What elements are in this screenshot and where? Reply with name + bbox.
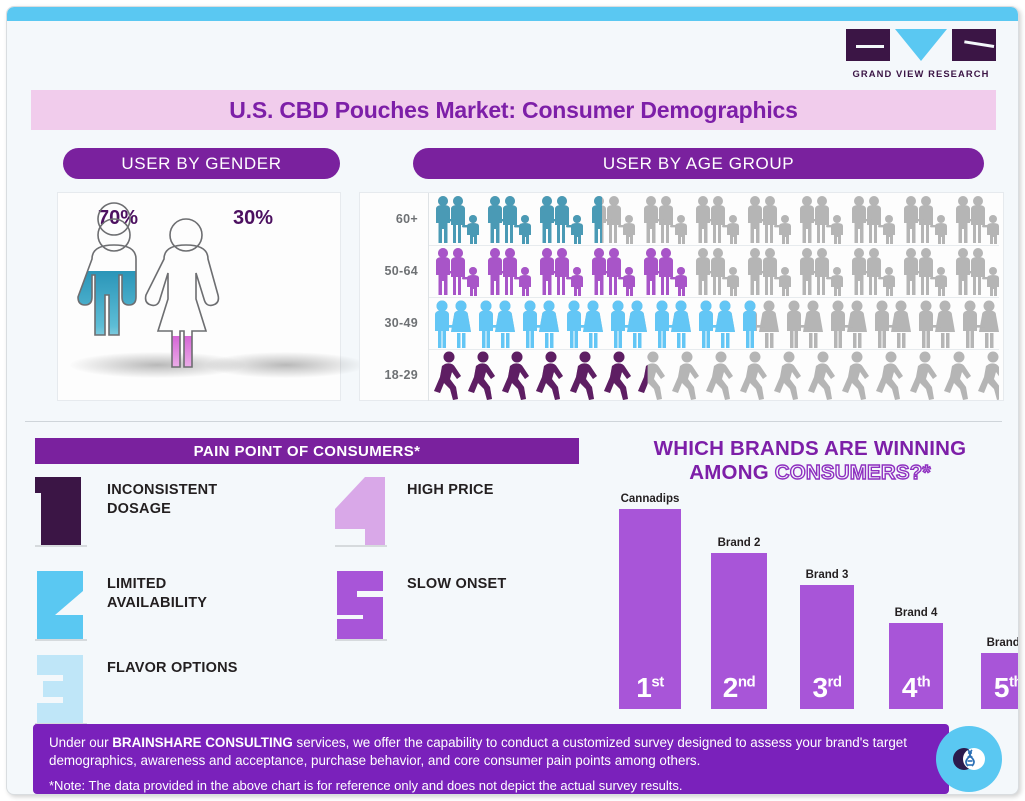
brands-bar-chart: Cannadips1stBrand 22ndBrand 33rdBrand 44… bbox=[607, 487, 1017, 709]
pain-point-label: INCONSISTENT DOSAGE bbox=[107, 477, 217, 518]
pain-point-label: SLOW ONSET bbox=[407, 571, 506, 594]
brainshare-consulting-logo bbox=[936, 726, 1002, 792]
age-row-label: 50-64 bbox=[360, 264, 428, 278]
pain-point-rank-1-icon bbox=[35, 477, 93, 545]
brand-bar-column[interactable]: Brand 55th bbox=[981, 653, 1019, 709]
brand-bar-rect: 3rd bbox=[800, 585, 854, 709]
gender-figures bbox=[58, 193, 342, 402]
logo-mark-triangle bbox=[895, 29, 947, 61]
logo-wordmark: GRAND VIEW RESEARCH bbox=[846, 68, 996, 79]
pain-point-label: LIMITED AVAILABILITY bbox=[107, 571, 207, 612]
age-row-track bbox=[428, 297, 999, 349]
brands-title-among: AMONG bbox=[689, 461, 774, 484]
age-row-label: 60+ bbox=[360, 212, 428, 226]
pain-point-item: FLAVOR OPTIONS bbox=[35, 655, 238, 723]
footer-lead: Under our bbox=[49, 735, 112, 750]
top-accent-bar bbox=[7, 7, 1018, 21]
age-group-chart-panel: 60+50-6430-4918-29 bbox=[359, 192, 1004, 401]
pain-point-rank-4-icon bbox=[335, 477, 393, 545]
brand-bar-rank: 4th bbox=[902, 674, 930, 709]
age-row-50-64: 50-64 bbox=[360, 245, 1003, 297]
age-row-track bbox=[428, 193, 999, 245]
brand-bar-rank: 3rd bbox=[812, 674, 841, 709]
brand-bar-label: Brand 2 bbox=[718, 537, 761, 549]
brand-bar-rank-suffix: th bbox=[917, 674, 930, 691]
pain-point-item: LIMITED AVAILABILITY bbox=[35, 571, 207, 639]
age-row-18-29: 18-29 bbox=[360, 349, 1003, 401]
brands-chart-title: WHICH BRANDS ARE WINNING AMONG CONSUMERS… bbox=[605, 437, 1015, 485]
pain-point-rank-3-icon bbox=[35, 655, 93, 723]
brand-bar-rank: 1st bbox=[636, 674, 663, 709]
brand-bar-label: Cannadips bbox=[621, 493, 680, 505]
age-row-30-49: 30-49 bbox=[360, 297, 1003, 349]
pain-point-item: HIGH PRICE bbox=[335, 477, 494, 545]
section-divider bbox=[25, 421, 1002, 422]
age-row-track bbox=[428, 245, 999, 297]
age-row-label: 30-49 bbox=[360, 316, 428, 330]
brand-bar-rank-suffix: st bbox=[651, 674, 663, 691]
section-header-user-by-gender: USER BY GENDER bbox=[63, 148, 340, 179]
brand-bar-rank-suffix: nd bbox=[738, 674, 755, 691]
pain-point-label: FLAVOR OPTIONS bbox=[107, 655, 238, 678]
brands-title-consumers: CONSUMERS?* bbox=[775, 461, 931, 484]
brands-title-line1: WHICH BRANDS ARE WINNING bbox=[654, 437, 967, 460]
footer-callout: Under our BRAINSHARE CONSULTING services… bbox=[33, 724, 949, 794]
pain-point-rank-2-icon bbox=[35, 571, 93, 639]
pain-points-header: PAIN POINT OF CONSUMERS* bbox=[35, 438, 579, 464]
age-row-60plus: 60+ bbox=[360, 193, 1003, 245]
pain-point-label: HIGH PRICE bbox=[407, 477, 494, 500]
brand-bar-column[interactable]: Brand 22nd bbox=[711, 553, 767, 709]
footer-brand-name: BRAINSHARE CONSULTING bbox=[112, 735, 293, 750]
page-title-band: U.S. CBD Pouches Market: Consumer Demogr… bbox=[31, 90, 996, 130]
brand-bar-label: Brand 3 bbox=[806, 569, 849, 581]
logo-mark-right bbox=[952, 29, 996, 61]
age-row-label: 18-29 bbox=[360, 368, 428, 382]
brand-bar-rank-suffix: th bbox=[1009, 674, 1019, 691]
footer-note: *Note: The data provided in the above ch… bbox=[49, 777, 933, 795]
brand-bar-rank: 2nd bbox=[723, 674, 755, 709]
brand-bar-rect: 4th bbox=[889, 623, 943, 709]
brand-bar-rank: 5th bbox=[994, 674, 1019, 709]
brand-bar-column[interactable]: Brand 33rd bbox=[800, 585, 854, 709]
pain-point-item: SLOW ONSET bbox=[335, 571, 506, 639]
infographic-frame: GRAND VIEW RESEARCH U.S. CBD Pouches Mar… bbox=[6, 6, 1019, 795]
brand-bar-label: Brand 4 bbox=[895, 607, 938, 619]
brand-bar-label: Brand 5 bbox=[987, 637, 1019, 649]
brand-bar-rank-suffix: rd bbox=[828, 674, 842, 691]
brainshare-glyph bbox=[947, 737, 991, 781]
brand-bar-column[interactable]: Cannadips1st bbox=[619, 509, 681, 709]
section-header-user-by-age-group: USER BY AGE GROUP bbox=[413, 148, 984, 179]
gender-chart-panel: 70% 30% bbox=[57, 192, 341, 401]
pain-point-item: INCONSISTENT DOSAGE bbox=[35, 477, 217, 545]
grand-view-research-logo: GRAND VIEW RESEARCH bbox=[846, 29, 996, 81]
page-title: U.S. CBD Pouches Market: Consumer Demogr… bbox=[229, 97, 797, 124]
age-row-track bbox=[428, 349, 999, 401]
brand-bar-rect: 5th bbox=[981, 653, 1019, 709]
footer-main-text: Under our BRAINSHARE CONSULTING services… bbox=[49, 734, 933, 770]
pain-point-rank-5-icon bbox=[335, 571, 393, 639]
brand-bar-rect: 2nd bbox=[711, 553, 767, 709]
brand-bar-column[interactable]: Brand 44th bbox=[889, 623, 943, 709]
brand-bar-rect: 1st bbox=[619, 509, 681, 709]
logo-mark-left bbox=[846, 29, 890, 61]
